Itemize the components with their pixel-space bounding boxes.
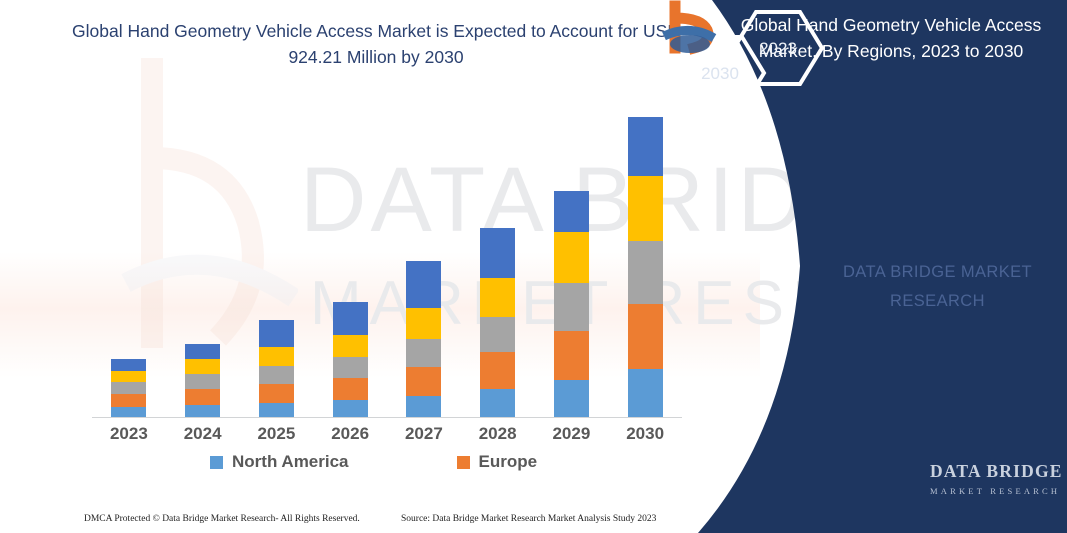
bar-segment (111, 359, 146, 370)
bar-segment (406, 367, 441, 396)
logo-text: DATA BRIDGE MARKET RESEARCH (930, 461, 1063, 496)
bar-segment (259, 403, 294, 417)
chart-legend: North America Europe (92, 452, 682, 510)
legend-item-north-america[interactable]: North America (210, 452, 349, 472)
bar-segment (259, 320, 294, 347)
stacked-bar-2030[interactable] (628, 117, 663, 417)
stacked-bar-2023[interactable] (111, 359, 146, 417)
brand-watermark-text: DATA BRIDGE MARKET RESEARCH (835, 258, 1040, 316)
bar-slot (92, 110, 166, 417)
infographic-page: DATA BRIDGE MARKET RESEARCH Global Hand … (0, 0, 1067, 533)
bar-slot (166, 110, 240, 417)
bar-segment (480, 352, 515, 389)
bar-segment (259, 384, 294, 403)
bar-slot (535, 110, 609, 417)
x-axis-label-2026: 2026 (313, 424, 387, 444)
footer-dmca-text: DMCA Protected © Data Bridge Market Rese… (84, 514, 360, 524)
brand-watermark-line1: DATA BRIDGE MARKET (835, 258, 1040, 287)
x-axis-label-2025: 2025 (240, 424, 314, 444)
x-axis-label-2029: 2029 (535, 424, 609, 444)
x-axis-line (92, 417, 682, 418)
bar-slot (387, 110, 461, 417)
bar-segment (333, 357, 368, 378)
data-bridge-logo-icon (660, 0, 850, 55)
bar-segment (628, 176, 663, 241)
bar-segment (480, 317, 515, 352)
bar-segment (406, 261, 441, 308)
bar-segment (480, 228, 515, 278)
footer-source-text: Source: Data Bridge Market Research Mark… (401, 514, 656, 524)
bar-segment (259, 366, 294, 385)
bar-segment (480, 389, 515, 417)
stacked-bar-2029[interactable] (554, 191, 589, 417)
stacked-bar-2027[interactable] (406, 261, 441, 417)
bar-segment (333, 335, 368, 356)
bar-segment (554, 283, 589, 330)
bar-segment (480, 278, 515, 316)
bar-slot (461, 110, 535, 417)
svg-text:2030: 2030 (701, 64, 739, 83)
bar-segment (259, 347, 294, 366)
legend-label-north-america: North America (232, 452, 349, 472)
bar-segment (111, 407, 146, 417)
legend-item-europe[interactable]: Europe (457, 452, 538, 472)
brand-panel: Global Hand Geometry Vehicle Access Mark… (660, 0, 1067, 533)
stacked-bar-2025[interactable] (259, 320, 294, 417)
bar-segment (554, 331, 589, 380)
bar-segment (406, 308, 441, 339)
stacked-bar-2026[interactable] (333, 302, 368, 417)
bar-segment (554, 232, 589, 283)
x-axis-label-2027: 2027 (387, 424, 461, 444)
legend-swatch-north-america (210, 456, 223, 469)
x-axis-label-2024: 2024 (166, 424, 240, 444)
logo-line1: DATA BRIDGE (930, 461, 1063, 482)
bar-segment (628, 304, 663, 369)
bar-segment (628, 369, 663, 417)
stacked-bar-2028[interactable] (480, 228, 515, 417)
bar-segment (554, 380, 589, 417)
bar-segment (111, 382, 146, 394)
page-title: Global Hand Geometry Vehicle Access Mark… (66, 18, 686, 70)
bar-segment (406, 339, 441, 367)
bar-segment (554, 191, 589, 232)
footer: DMCA Protected © Data Bridge Market Rese… (0, 506, 700, 533)
bar-segment (185, 374, 220, 389)
brand-watermark-line2: RESEARCH (835, 287, 1040, 316)
bar-segment (185, 359, 220, 374)
bar-segment (111, 371, 146, 382)
x-axis-label-2028: 2028 (461, 424, 535, 444)
bar-segment (333, 400, 368, 417)
bar-segment (628, 241, 663, 303)
bar-segment (333, 302, 368, 335)
chart-area: DATA BRIDGE MARKET RESEARCH Global Hand … (0, 0, 760, 533)
x-axis-label-2023: 2023 (92, 424, 166, 444)
x-axis-labels: 20232024202520262027202820292030 (92, 424, 682, 444)
legend-label-europe: Europe (479, 452, 538, 472)
bar-group (92, 110, 682, 417)
legend-swatch-europe (457, 456, 470, 469)
bar-segment (628, 117, 663, 177)
stacked-bar-chart (92, 110, 682, 418)
logo-line2: MARKET RESEARCH (930, 486, 1063, 496)
bar-slot (240, 110, 314, 417)
bar-segment (406, 396, 441, 417)
bar-segment (185, 344, 220, 360)
bar-slot (313, 110, 387, 417)
bar-segment (111, 394, 146, 407)
bar-segment (185, 389, 220, 405)
stacked-bar-2024[interactable] (185, 344, 220, 417)
bar-segment (185, 405, 220, 417)
bar-segment (333, 378, 368, 400)
